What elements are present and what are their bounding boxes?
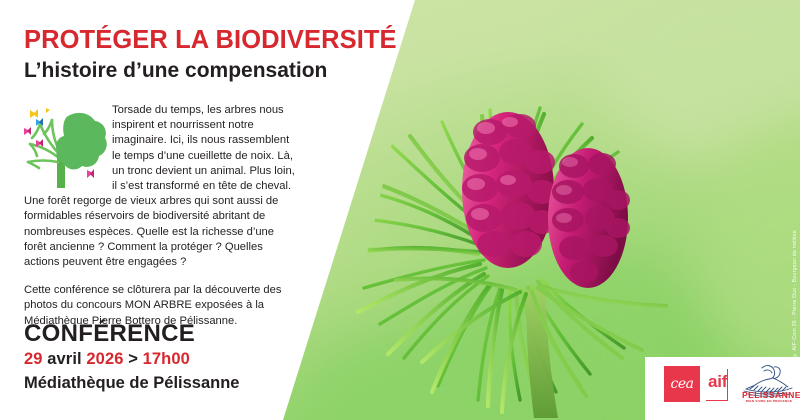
event-time: 17h00 xyxy=(143,350,190,368)
page-title: PROTÉGER LA BIODIVERSITÉ xyxy=(24,26,397,55)
aif-logo: aif xyxy=(708,372,727,392)
event-venue: Médiathèque de Pélissanne xyxy=(24,374,239,393)
event-month: avril xyxy=(47,350,81,368)
photo-credit: © AIF-Com 26 - Pierre Duc - Bourgeon de … xyxy=(792,230,798,358)
event-heading: CONFÉRENCE xyxy=(24,320,195,348)
cea-logo-label: cea xyxy=(671,376,694,392)
body-copy: Torsade du temps, les arbres nous inspir… xyxy=(24,103,296,329)
page-subtitle: L’histoire d’une compensation xyxy=(24,59,327,83)
poster-canvas: © AIF-Com 26 - Pierre Duc - Bourgeon de … xyxy=(0,0,800,420)
content-column: PROTÉGER LA BIODIVERSITÉ L’histoire d’un… xyxy=(0,0,420,420)
cea-logo: cea xyxy=(664,366,700,402)
event-year: 2026 xyxy=(86,350,123,368)
pelissanne-logo-tagline: BIEN VIVRE EN PROVENCE xyxy=(742,399,796,403)
event-separator: > xyxy=(128,350,138,368)
event-day: 29 xyxy=(24,350,43,368)
event-datetime: 29 avril 2026 > 17h00 xyxy=(24,350,190,369)
tree-icon-text-wrap xyxy=(24,103,112,187)
